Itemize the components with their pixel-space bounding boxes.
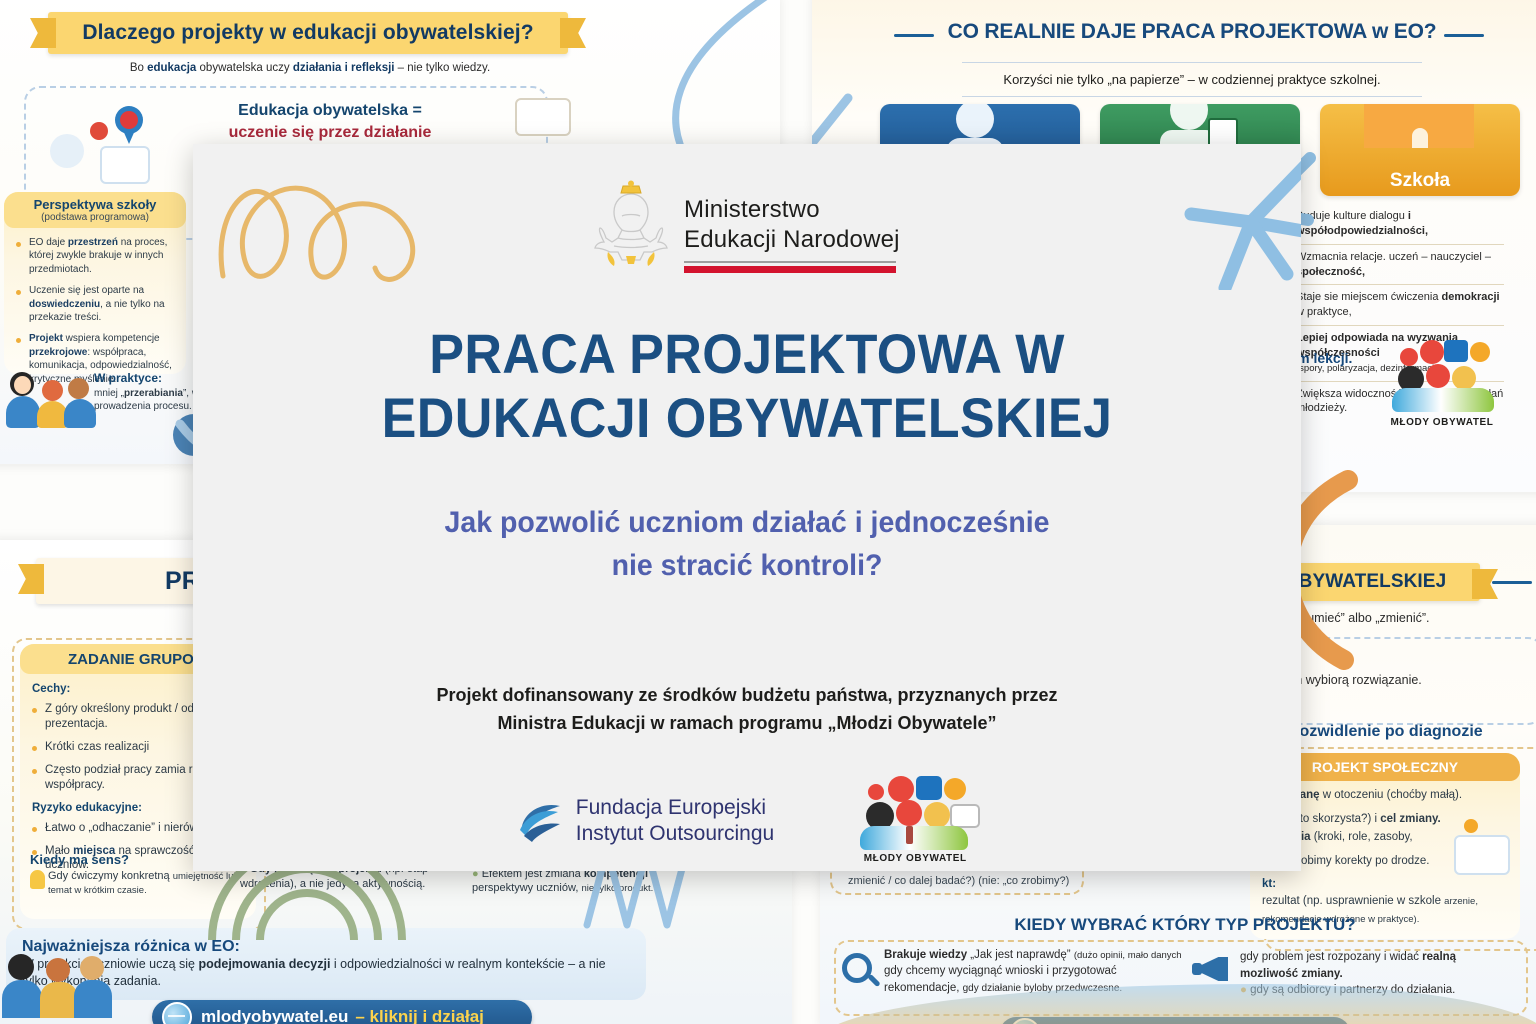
rozwidlenie-title: Rozwidlenie po diagnozie (1288, 723, 1483, 741)
polish-flag-rule (684, 261, 896, 273)
divider (1296, 244, 1504, 245)
location-pin-icon (888, 776, 914, 802)
perspektywa-szkoly-subtitle: (podstawa programowa) (41, 212, 149, 223)
mlody-obywatel-label-bg: MŁODY OBYWATEL (1390, 417, 1493, 428)
fundacja-logo: Fundacja Europejski Instytut Outsourcing… (516, 795, 774, 846)
screenshot-stage: Dlaczego projekty w edukacji obywatelski… (0, 0, 1536, 1024)
panel-tr-sub-rule (962, 96, 1422, 97)
person-head-icon (896, 800, 922, 826)
panel-br-heading-dash (1492, 581, 1532, 584)
speech-bubble-icon-2 (515, 98, 571, 136)
zadanie-grupowe-title: ZADANIE GRUPOW (68, 651, 208, 668)
person-head-icon (68, 378, 89, 399)
globe-icon (162, 1002, 192, 1024)
list-item: Buduje kulture dialogu i współodpowiedzi… (1296, 204, 1504, 244)
chat-bubble-icon (1454, 835, 1510, 875)
list-item: Staje sie miejscem ćwiczenia demokracji … (1296, 285, 1504, 325)
panel-tl-callout-line1: Edukacja obywatelska = (200, 100, 460, 122)
circle-avatar-decoration (50, 134, 84, 168)
cta-url-bl: mlodyobywatel.eu (201, 1007, 348, 1024)
list-item: Wzmacnia relacje. uczeń – nauczyciel – s… (1296, 245, 1504, 285)
exclamation-icon (944, 778, 966, 800)
chat-lines-icon (950, 804, 980, 828)
kiedy-wybrac-title: KIEDY WYBRAĆ KTÓRY TYP PROJEKTU? (820, 915, 1536, 935)
mlody-obywatel-logo: MŁODY OBYWATEL (852, 778, 978, 864)
title-slide: Ministerstwo Edukacji Narodowej PRACA PR… (193, 144, 1301, 871)
cta-suffix-bl: – kliknij i działaj (355, 1007, 484, 1024)
panel-tr-heading: CO REALNIE DAJE PRACA PROJEKTOWA w EO? (922, 20, 1462, 44)
tie-icon (906, 826, 913, 844)
ministry-line-1: Ministerstwo (684, 195, 900, 225)
projekt-spoleczny-title: ROJEKT SPOŁECZNY (1312, 759, 1458, 775)
group-body-shape (860, 826, 968, 850)
fundacja-line-2: Instytut Outsourcingu (576, 821, 774, 847)
red-dot-decoration (90, 122, 108, 140)
people-illustration-tl (6, 368, 98, 428)
funding-note: Projekt dofinansowany ze środków budżetu… (193, 682, 1301, 738)
panel-tl-ribbon-heading: Dlaczego projekty w edukacji obywatelski… (48, 12, 568, 54)
list-item: Uczenie się jest oparte na doswiedczeniu… (16, 284, 178, 324)
person-head-icon (42, 380, 63, 401)
page-title: PRACA PROJEKTOWA W EDUKACJI OBYWATELSKIE… (232, 322, 1262, 450)
flag-red-bar (684, 266, 896, 273)
panel-tr-subheading: Korzyści nie tylko „na papierze” – w cod… (922, 72, 1462, 87)
panel-tl-callout: Edukacja obywatelska = uczenie się przez… (200, 100, 460, 143)
person-body-icon (6, 396, 40, 428)
map-pin-icon (115, 106, 143, 144)
funding-line-1: Projekt dofinansowany ze środków budżetu… (193, 682, 1301, 710)
mlody-obywatel-logo-bg: MŁODY OBYWATEL (1382, 344, 1502, 428)
fundacja-swoosh-icon (516, 798, 564, 844)
flag-grey-bar (684, 261, 896, 263)
page-subtitle: Jak pozwolić uczniom działać i jednocześ… (221, 502, 1274, 587)
person-face-icon (14, 376, 31, 394)
mlody-obywatel-label: MŁODY OBYWATEL (864, 853, 967, 864)
megaphone-icon (1192, 953, 1234, 985)
slide-logo-row: Fundacja Europejski Instytut Outsourcing… (193, 778, 1301, 864)
panel-tl-callout-line2: uczenie się przez działanie (200, 122, 460, 144)
slide-title-line-2: EDUKACJI OBYWATELSKIEJ (232, 386, 1262, 450)
efekt-label-br: kt: (1262, 876, 1510, 893)
perspektywa-szkoly-title: Perspektywa szkoły (34, 197, 157, 212)
column-card-szkola: Szkoła (1320, 104, 1520, 196)
slide-subtitle-line-2: nie stracić kontroli? (221, 545, 1274, 588)
slide-title-line-1: PRACA PROJEKTOWA W (232, 322, 1262, 386)
fundacja-line-1: Fundacja Europejski (576, 795, 774, 821)
person-head-icon (924, 802, 950, 828)
list-item: EO daje przestrzeń na proces, której zwy… (16, 236, 178, 276)
column-label-szkola: Szkoła (1320, 170, 1520, 196)
speech-bubble-icon (100, 146, 150, 184)
funding-line-2: Ministra Edukacji w ramach programu „Mło… (193, 710, 1301, 738)
dot-orange-icon (1464, 819, 1478, 833)
perspektywa-szkoly-card: Perspektywa szkoły (podstawa programowa)… (4, 192, 186, 374)
divider (1296, 284, 1504, 285)
school-building-icon (1364, 104, 1474, 156)
roznica-title: Najważniejsza różnica w EO: (22, 938, 630, 956)
panel-tr-heading-rule (962, 62, 1422, 63)
ministry-line-2: Edukacji Narodowej (684, 225, 900, 255)
blue-starburst-slide-decoration (1183, 150, 1301, 290)
bulb-icon (30, 870, 45, 889)
people-illustration-bl (2, 948, 112, 1018)
magnifier-icon (842, 953, 880, 991)
document-bubble-icon (916, 776, 942, 800)
polish-eagle-emblem-icon (592, 180, 670, 270)
cta-mlodyobywatel-bl[interactable]: mlodyobywatel.eu – kliknij i działaj (152, 1000, 532, 1024)
amber-loop-scribble-decoration (207, 156, 477, 316)
person-body-icon (64, 399, 96, 428)
w-praktyce-title: W praktyce: (94, 371, 162, 385)
panel-tl-heading-text: Dlaczego projekty w edukacji obywatelski… (82, 21, 533, 45)
perspektywa-szkoly-card-header: Perspektywa szkoły (podstawa programowa) (4, 192, 186, 228)
slide-subtitle-line-1: Jak pozwolić uczniom działać i jednocześ… (221, 502, 1274, 545)
panel-tl-subheading: Bo edukacja obywatelska uczy działania i… (50, 62, 570, 74)
divider (1296, 325, 1504, 326)
ministry-logo: Ministerstwo Edukacji Narodowej (592, 180, 900, 270)
red-dot-icon (868, 784, 884, 800)
